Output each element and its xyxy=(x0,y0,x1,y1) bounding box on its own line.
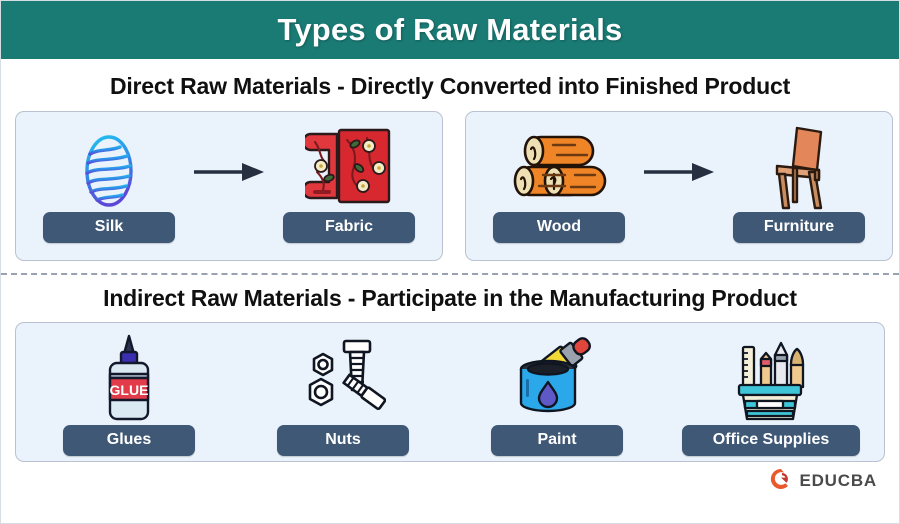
paint-can-brush-icon xyxy=(512,333,602,425)
arrow-right-icon xyxy=(184,112,274,260)
item-paint[interactable]: Paint xyxy=(450,323,664,461)
footer-bar: EDUCBA xyxy=(1,462,899,500)
header-banner: Types of Raw Materials xyxy=(1,1,899,59)
direct-materials-row: Silk xyxy=(1,111,899,261)
section-divider xyxy=(1,273,899,275)
item-office-supplies[interactable]: Office Supplies xyxy=(664,323,878,461)
panel-wood-furniture: Wood xyxy=(465,111,893,261)
conversion-result-furniture[interactable]: Furniture xyxy=(724,112,874,260)
nuts-and-bolts-icon xyxy=(300,333,386,425)
chair-icon xyxy=(763,120,835,212)
item-glues[interactable]: GLUE Glues xyxy=(22,323,236,461)
page-title: Types of Raw Materials xyxy=(278,12,623,48)
conversion-pair-wood: Wood xyxy=(466,112,892,260)
conversion-result-fabric[interactable]: Fabric xyxy=(274,112,424,260)
label-wood: Wood xyxy=(493,212,625,243)
office-supplies-cup-icon xyxy=(731,333,811,425)
silk-cocoon-icon xyxy=(78,120,140,212)
label-nuts: Nuts xyxy=(277,425,409,456)
panel-indirect-materials: GLUE Glues xyxy=(15,322,885,462)
educba-logo[interactable]: EDUCBA xyxy=(770,468,877,495)
infographic-page: Types of Raw Materials Direct Raw Materi… xyxy=(0,0,900,524)
panel-silk-fabric: Silk xyxy=(15,111,443,261)
label-paint: Paint xyxy=(491,425,623,456)
glue-bottle-icon: GLUE xyxy=(101,333,157,425)
conversion-source-wood[interactable]: Wood xyxy=(484,112,634,260)
label-office-supplies: Office Supplies xyxy=(682,425,860,456)
educba-brand-text: EDUCBA xyxy=(799,471,877,491)
label-silk: Silk xyxy=(43,212,175,243)
glue-bottle-text: GLUE xyxy=(110,382,149,398)
label-fabric: Fabric xyxy=(283,212,415,243)
label-furniture: Furniture xyxy=(733,212,865,243)
fabric-roll-icon xyxy=(305,120,393,212)
section-heading-direct: Direct Raw Materials - Directly Converte… xyxy=(1,73,899,100)
wood-logs-icon xyxy=(509,120,609,212)
arrow-right-icon xyxy=(634,112,724,260)
label-glues: Glues xyxy=(63,425,195,456)
section-heading-indirect: Indirect Raw Materials - Participate in … xyxy=(1,285,899,312)
conversion-pair-silk: Silk xyxy=(16,112,442,260)
item-nuts[interactable]: Nuts xyxy=(236,323,450,461)
educba-logo-icon xyxy=(770,468,792,495)
conversion-source-silk[interactable]: Silk xyxy=(34,112,184,260)
